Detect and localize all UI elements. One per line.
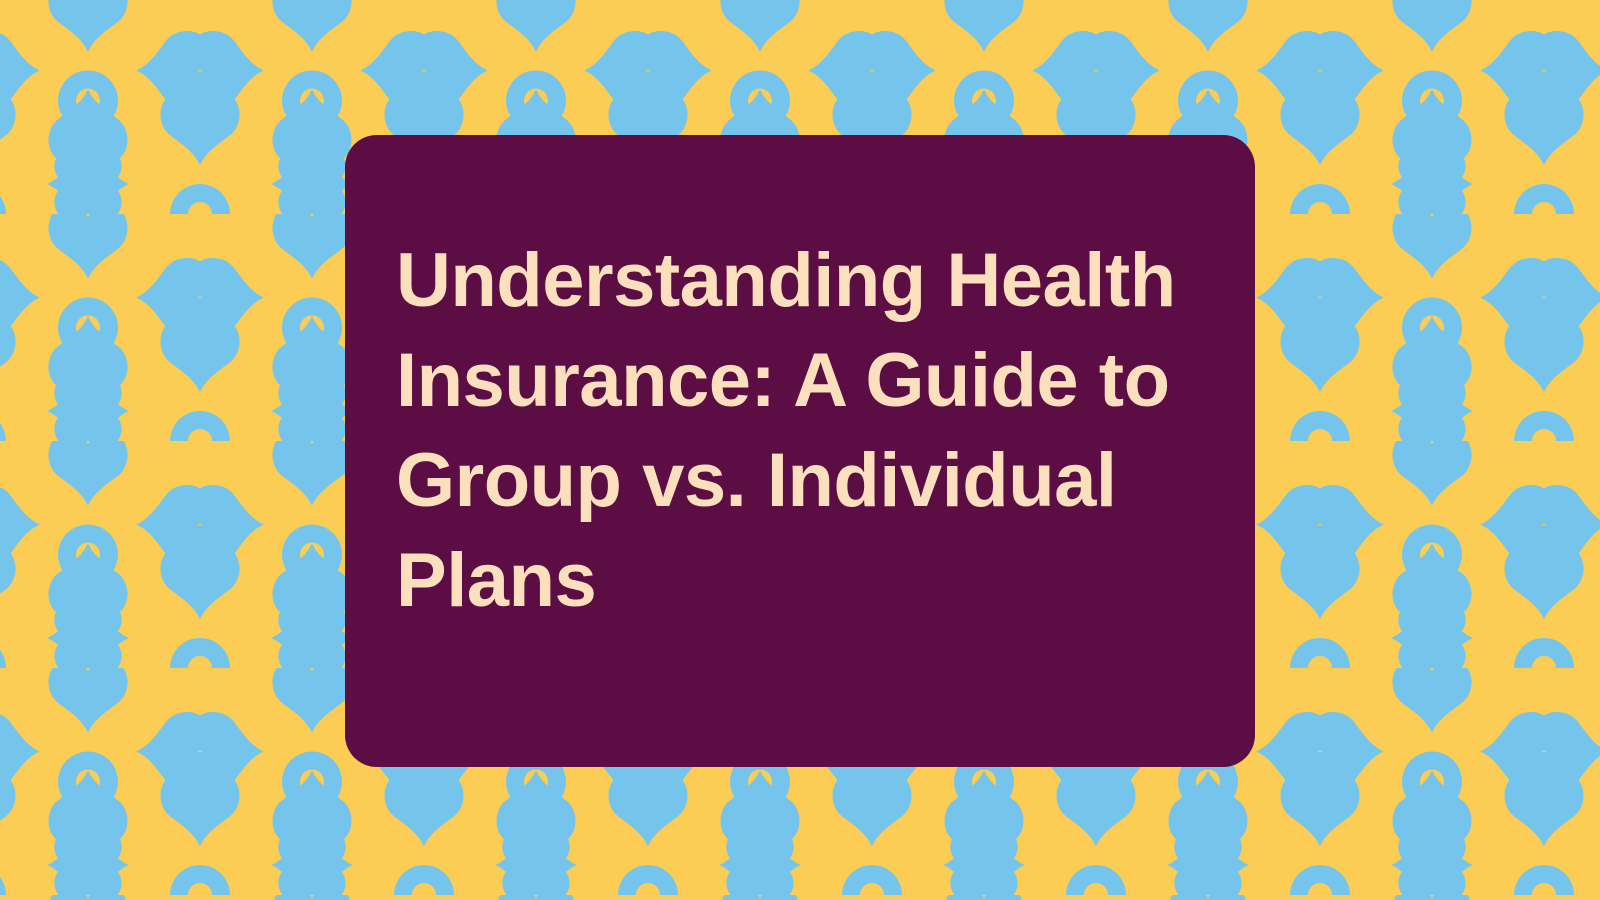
title-card: Understanding Health Insurance: A Guide … <box>345 135 1255 767</box>
page-title: Understanding Health Insurance: A Guide … <box>396 231 1201 631</box>
slide-canvas: Understanding Health Insurance: A Guide … <box>0 0 1600 900</box>
